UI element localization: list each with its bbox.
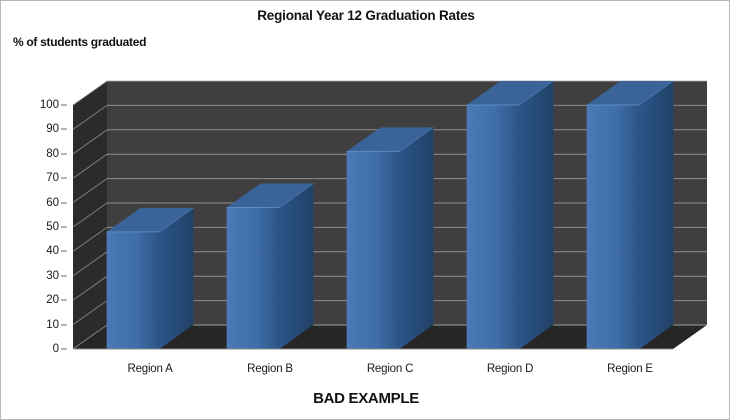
- y-axis-label: % of students graduated: [13, 35, 146, 49]
- y-axis-tick-label: 90: [46, 123, 59, 135]
- y-axis-tick-mark: [61, 202, 67, 203]
- x-axis-tick-label: Region B: [247, 363, 293, 375]
- chart-title: Regional Year 12 Graduation Rates: [1, 8, 730, 23]
- plot-area: [73, 71, 707, 361]
- x-axis-tick-labels: Region ARegion BRegion CRegion DRegion E: [73, 363, 707, 385]
- plot-graphics: [73, 71, 707, 361]
- x-axis-title: BAD EXAMPLE: [1, 390, 730, 407]
- y-axis-tick-label: 0: [53, 343, 59, 355]
- y-axis-tick-label: 60: [46, 197, 59, 209]
- y-axis-tick-mark: [61, 105, 67, 106]
- y-axis-tick-label: 30: [46, 270, 59, 282]
- y-axis-tick-labels: 0102030405060708090100: [1, 71, 73, 361]
- y-axis-tick-mark: [61, 349, 67, 350]
- y-axis-tick-mark: [61, 153, 67, 154]
- y-axis-tick-mark: [61, 324, 67, 325]
- x-axis-tick-label: Region E: [607, 363, 653, 375]
- y-axis-tick-label: 70: [46, 172, 59, 184]
- y-axis-tick-mark: [61, 251, 67, 252]
- y-axis-tick-mark: [61, 275, 67, 276]
- y-axis-tick-label: 80: [46, 148, 59, 160]
- x-axis-tick-label: Region A: [127, 363, 172, 375]
- y-axis-tick-label: 10: [46, 319, 59, 331]
- y-axis-tick-label: 20: [46, 294, 59, 306]
- y-axis-tick-label: 50: [46, 221, 59, 233]
- y-axis-tick-label: 100: [40, 99, 59, 111]
- y-axis-tick-mark: [61, 178, 67, 179]
- x-axis-tick-label: Region D: [487, 363, 533, 375]
- y-axis-tick-mark: [61, 300, 67, 301]
- x-axis-tick-label: Region C: [367, 363, 413, 375]
- y-axis-tick-mark: [61, 129, 67, 130]
- y-axis-tick-mark: [61, 227, 67, 228]
- y-axis-tick-label: 40: [46, 245, 59, 257]
- chart-container: Regional Year 12 Graduation Rates % of s…: [0, 0, 730, 420]
